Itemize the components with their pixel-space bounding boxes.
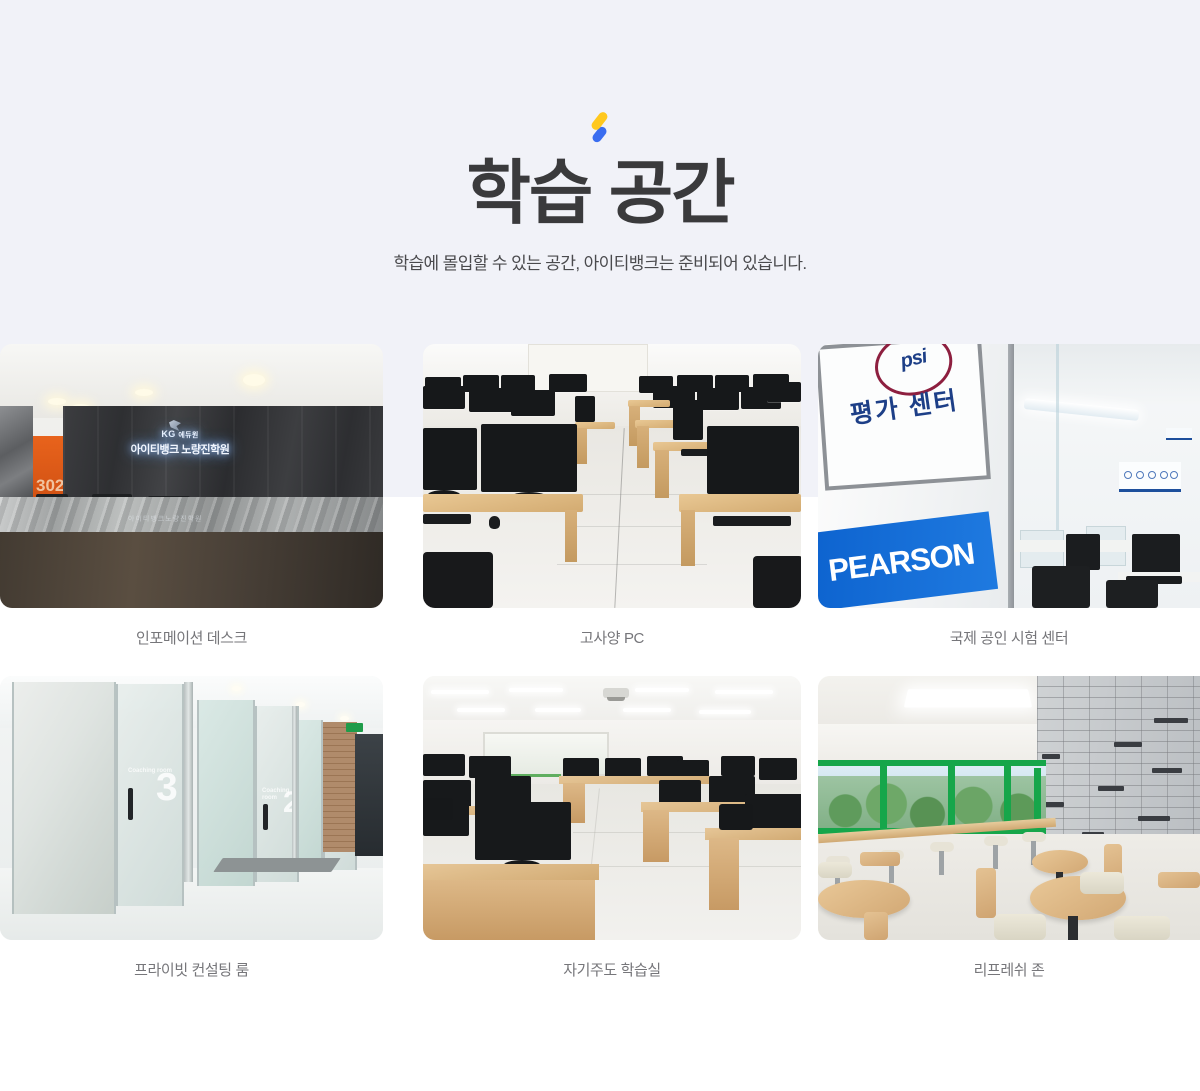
- page-subtitle: 학습에 몰입할 수 있는 공간, 아이티뱅크는 준비되어 있습니다.: [393, 249, 806, 274]
- desk-side: [423, 880, 595, 940]
- monitor: [469, 756, 511, 778]
- coaching-room-number: 3: [156, 766, 178, 810]
- monitor: [1066, 534, 1100, 570]
- round-table: [1032, 850, 1088, 874]
- psi-logo-text: psi: [898, 345, 928, 373]
- ceiling-light: [431, 690, 489, 694]
- desk-side: [637, 426, 649, 468]
- floor-tile-line: [565, 526, 695, 527]
- window-frame: [948, 764, 955, 832]
- page-header: 학습 공간 학습에 몰입할 수 있는 공간, 아이티뱅크는 준비되어 있습니다.: [0, 0, 1200, 344]
- ceiling-light: [135, 389, 153, 396]
- floor-mat: [213, 858, 340, 872]
- accent-brick: [1044, 802, 1064, 807]
- desk-side: [655, 450, 669, 498]
- poster-icon: [1148, 471, 1156, 479]
- ceiling-light: [340, 716, 349, 721]
- gallery-row: Coaching room 3 Coaching room 2: [0, 676, 1200, 1008]
- bar-stool: [984, 836, 1008, 846]
- pearson-sign-board: PEARSON: [818, 511, 998, 608]
- keyboard: [423, 514, 471, 524]
- chair-seat: [994, 914, 1046, 940]
- marble-wall-panel: [0, 406, 33, 501]
- monitor: [423, 428, 477, 490]
- wood-chair: [976, 868, 996, 918]
- chair: [423, 552, 493, 608]
- ceiling-light: [635, 688, 689, 692]
- chair-seat: [1080, 872, 1124, 894]
- psi-sign-board: psi 평가 센터: [818, 344, 991, 491]
- table-leg: [1068, 916, 1078, 940]
- chair: [753, 556, 801, 608]
- learning-space-page: 학습 공간 학습에 몰입할 수 있는 공간, 아이티뱅크는 준비되어 있습니다.…: [0, 0, 1200, 1091]
- wood-chair: [860, 852, 900, 866]
- gallery-item-information-desk[interactable]: 302 KG 에듀원 아이티뱅크 노량진학원: [0, 344, 383, 648]
- frosted-glass-panel: [297, 720, 323, 872]
- ceiling-light: [457, 708, 505, 712]
- desk-side: [565, 510, 577, 562]
- chair: [1106, 580, 1158, 608]
- gallery-item-self-study-room[interactable]: 자기주도 학습실: [423, 676, 801, 980]
- monitor: [759, 758, 797, 780]
- testing-center-korean-label: 평가 센터: [848, 381, 961, 432]
- desk: [423, 864, 599, 880]
- ceiling-light: [535, 708, 581, 712]
- monitor: [469, 388, 513, 412]
- accent-brick: [1138, 816, 1170, 821]
- desk: [679, 494, 801, 512]
- keyboard: [713, 516, 791, 526]
- gallery-item-high-spec-pc[interactable]: 고사양 PC: [423, 344, 801, 648]
- desk-side: [681, 510, 695, 566]
- high-spec-pc-lab-photo: [423, 344, 801, 608]
- accent-brick: [1154, 718, 1188, 723]
- coaching-room-door-3[interactable]: Coaching room 3: [116, 684, 184, 906]
- poster-icon: [1136, 471, 1144, 479]
- ceiling-light: [232, 686, 241, 691]
- accent-brick: [1152, 768, 1182, 773]
- ceiling-light: [509, 688, 563, 692]
- monitor: [549, 374, 587, 392]
- testing-room: [1014, 344, 1200, 608]
- structural-mullion: [184, 682, 193, 882]
- monitor: [475, 802, 571, 860]
- door-handle[interactable]: [128, 788, 133, 820]
- gallery-item-consulting-room[interactable]: Coaching room 3 Coaching room 2: [0, 676, 383, 980]
- brand-main-label: 아이티뱅크 노량진학원: [125, 441, 235, 457]
- accent-brick: [1114, 742, 1142, 747]
- gallery-item-caption: 국제 공인 시험 센터: [818, 627, 1200, 648]
- emergency-exit-sign-icon: [346, 723, 363, 732]
- poster-icon: [1124, 471, 1132, 479]
- accent-brick: [1098, 786, 1124, 791]
- ceiling-light: [48, 398, 66, 405]
- chair-seat: [818, 862, 852, 878]
- frosted-glass-panel: [12, 682, 116, 914]
- monitor: [745, 794, 801, 832]
- bar-stool: [930, 842, 954, 852]
- counter-front-panel: [0, 532, 383, 608]
- diagonal-accent-stroke-icon: [585, 109, 615, 147]
- wood-chair: [864, 912, 888, 940]
- self-study-room-photo: [423, 676, 801, 940]
- service-door: [355, 734, 383, 856]
- brick-wall-accent: [323, 722, 357, 852]
- gallery-item-caption: 자기주도 학습실: [423, 959, 801, 980]
- signage-wall: psi 평가 센터 PEARSON: [818, 344, 1008, 608]
- whiteboard: [528, 344, 648, 392]
- refresh-zone-photo: [818, 676, 1200, 940]
- desk: [423, 494, 583, 512]
- monitor: [767, 382, 801, 402]
- bar-stool: [1022, 832, 1046, 842]
- mouse: [489, 516, 500, 529]
- gallery-item-caption: 프라이빗 컨설팅 룸: [0, 959, 383, 980]
- window-frame: [818, 760, 1046, 766]
- ceiling: [1014, 344, 1200, 404]
- monitor: [423, 754, 465, 776]
- window-frame: [1034, 768, 1041, 826]
- chair: [423, 798, 453, 820]
- gallery-row: 302 KG 에듀원 아이티뱅크 노량진학원: [0, 344, 1200, 676]
- counter-etched-text: 아이티뱅크노량진학원: [128, 514, 203, 524]
- door-handle[interactable]: [263, 804, 268, 830]
- monitor: [575, 396, 595, 422]
- ceiling-light: [699, 710, 751, 714]
- monitor: [511, 390, 555, 416]
- monitor: [481, 424, 577, 492]
- chair-seat: [1114, 916, 1170, 940]
- room-number-label: 302: [36, 476, 64, 496]
- ceiling-light: [715, 690, 773, 694]
- private-consulting-room-photo: Coaching room 3 Coaching room 2: [0, 676, 383, 940]
- ceiling-light-panel: [904, 689, 1032, 707]
- round-table: [818, 880, 910, 918]
- accent-brick: [1042, 754, 1060, 759]
- pearson-label: PEARSON: [826, 536, 976, 590]
- ceiling-light: [623, 708, 671, 712]
- gallery-item-caption: 고사양 PC: [423, 627, 801, 648]
- brand-top-label: KG 에듀원: [125, 429, 235, 440]
- chair: [1032, 566, 1090, 608]
- gallery-item-refresh-zone[interactable]: 리프레쉬 존: [818, 676, 1200, 980]
- window-frame: [880, 762, 887, 834]
- poster-icon: [1170, 471, 1178, 479]
- facility-gallery: 302 KG 에듀원 아이티뱅크 노량진학원: [0, 344, 1200, 1008]
- window-frame: [1004, 766, 1011, 828]
- ceiling-projector: [603, 688, 629, 698]
- certified-testing-center-photo: psi 평가 센터 PEARSON: [818, 344, 1200, 608]
- monitor: [707, 426, 799, 494]
- desk-side: [643, 810, 669, 862]
- reception-signage: KG 에듀원 아이티뱅크 노량진학원: [125, 429, 235, 465]
- gallery-item-testing-center[interactable]: psi 평가 센터 PEARSON 국제 공인 시험 센터: [818, 344, 1200, 648]
- monitor: [1132, 534, 1180, 574]
- monitor: [563, 758, 599, 778]
- monitor: [673, 400, 703, 440]
- gallery-item-caption: 인포메이션 데스크: [0, 627, 383, 648]
- gallery-item-caption: 리프레쉬 존: [818, 959, 1200, 980]
- monitor: [423, 386, 465, 409]
- information-desk-photo: 302 KG 에듀원 아이티뱅크 노량진학원: [0, 344, 383, 608]
- ceiling-light: [243, 374, 265, 386]
- wall-sign-small: [1166, 428, 1192, 440]
- wall-poster: [1119, 462, 1181, 492]
- page-title: 학습 공간: [466, 156, 733, 232]
- monitor: [697, 388, 739, 410]
- monitor: [721, 756, 755, 776]
- chair: [719, 804, 753, 830]
- wood-chair: [1158, 872, 1200, 888]
- poster-icon: [1160, 471, 1168, 479]
- desk-side: [709, 838, 739, 910]
- monitor: [605, 758, 641, 778]
